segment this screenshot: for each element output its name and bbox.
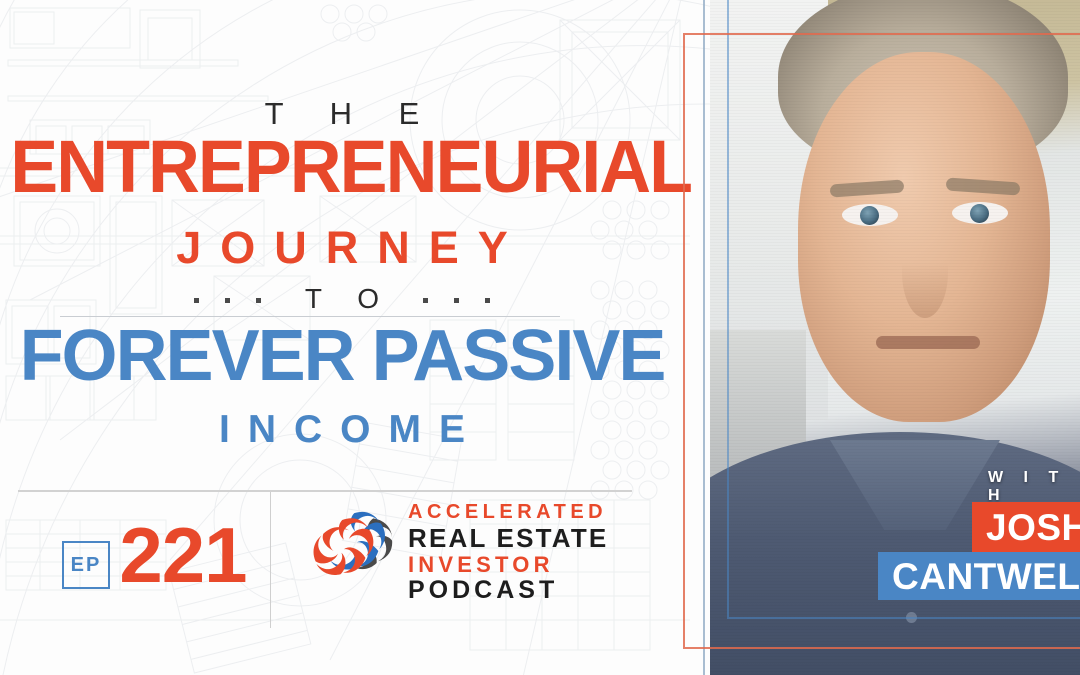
title-line-journey: JOURNEY — [0, 222, 684, 274]
dot-icon — [423, 298, 428, 303]
title-line-entrepreneurial: ENTREPRENEURIAL — [10, 128, 673, 206]
podcast-cover-artwork: T H E ENTREPRENEURIAL JOURNEY T O FOREVE… — [0, 0, 1080, 675]
dot-group-left — [194, 298, 261, 303]
title-line-income: INCOME — [0, 408, 684, 452]
dot-icon — [194, 298, 199, 303]
guest-last-name: CANTWELL — [892, 558, 1080, 595]
horizontal-divider — [18, 490, 632, 492]
guest-first-name: JOSH — [986, 509, 1080, 546]
podcast-logo: ACCELERATED REAL ESTATE INVESTOR PODCAST — [313, 503, 613, 598]
episode-number: 221 — [118, 513, 248, 597]
dot-group-right — [423, 298, 490, 303]
title-panel: T H E ENTREPRENEURIAL JOURNEY T O FOREVE… — [0, 0, 700, 675]
dot-icon — [485, 298, 490, 303]
podcast-logo-text: ACCELERATED REAL ESTATE INVESTOR PODCAST — [408, 498, 608, 603]
photo-edge-blue-line — [703, 0, 705, 675]
guest-last-name-band: CANTWELL — [878, 552, 1080, 600]
episode-prefix-badge: EP — [62, 541, 110, 589]
episode-prefix-label: EP — [71, 554, 102, 577]
dot-icon — [225, 298, 230, 303]
accelerated-swirl-logo-icon — [313, 508, 399, 594]
logo-line-accelerated: ACCELERATED — [408, 502, 608, 522]
guest-first-name-band: JOSH — [972, 502, 1080, 552]
title-connector-to: T O — [291, 283, 393, 317]
vertical-divider — [270, 492, 271, 628]
guest-with-label: W I T H — [988, 469, 1080, 505]
logo-line-podcast: PODCAST — [408, 578, 608, 603]
logo-line-investor: INVESTOR — [408, 554, 608, 576]
logo-line-real-estate: REAL ESTATE — [408, 525, 608, 551]
dot-icon — [454, 298, 459, 303]
title-line-forever-passive: FOREVER PASSIVE — [0, 318, 684, 394]
title-connector-row: T O — [0, 283, 684, 317]
dot-icon — [256, 298, 261, 303]
